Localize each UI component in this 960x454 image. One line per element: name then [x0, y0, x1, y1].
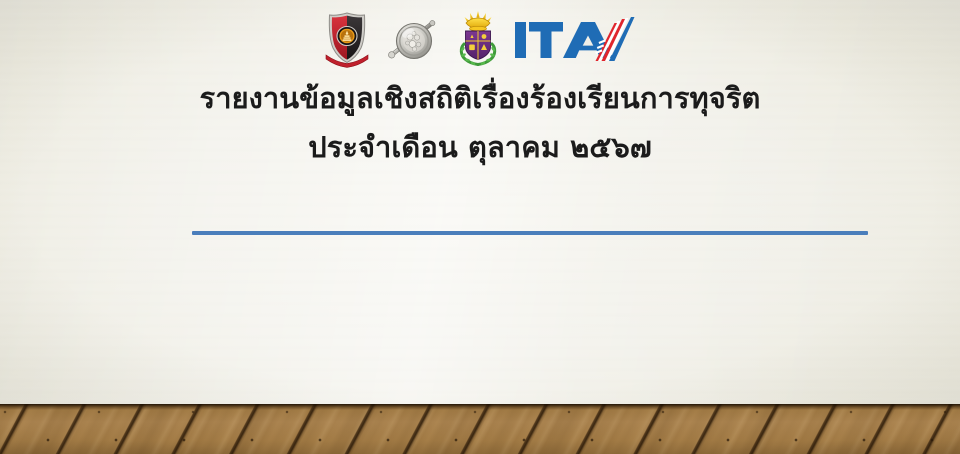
- floor-vignette: [0, 404, 960, 454]
- page-title-line-1: รายงานข้อมูลเชิงสถิติเรื่องร้องเรียนการท…: [0, 78, 960, 119]
- ita-wordmark-logo: [513, 11, 637, 67]
- title-slide: รายงานข้อมูลเชิงสถิติเรื่องร้องเรียนการท…: [0, 0, 960, 454]
- royal-thai-garuda-emblem-icon: [453, 10, 503, 68]
- page-title-line-2: ประจำเดือน ตุลาคม ๒๕๖๗: [0, 127, 960, 168]
- police-shield-emblem-icon: [323, 10, 371, 68]
- logo-row: [0, 8, 960, 70]
- title-block: รายงานข้อมูลเชิงสถิติเรื่องร้องเรียนการท…: [0, 78, 960, 168]
- wooden-floor: [0, 404, 960, 454]
- silver-ceremonial-emblem-icon: [381, 10, 443, 68]
- divider-rule: [192, 231, 868, 235]
